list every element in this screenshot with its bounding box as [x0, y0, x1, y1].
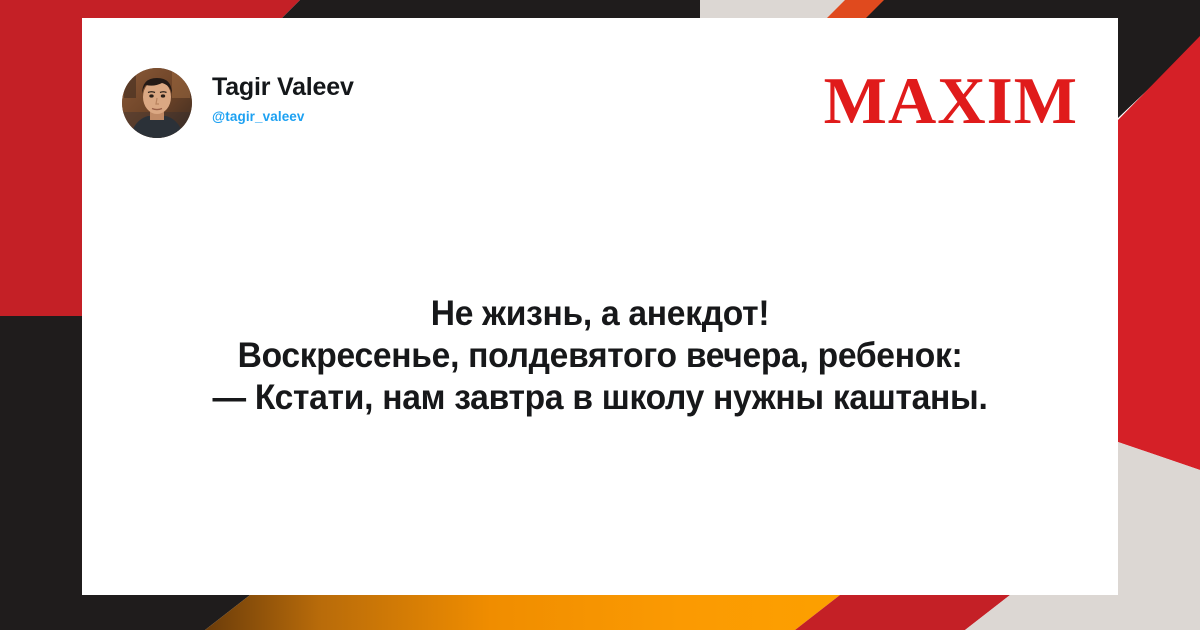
poster-canvas: Tagir Valeev @tagir_valeev MAXIM Не жизн… [0, 0, 1200, 630]
top-red-segment [0, 0, 300, 18]
quote-line-1: Не жизнь, а анекдот! [135, 293, 1064, 335]
author-name: Tagir Valeev [212, 74, 354, 102]
quote-card: Tagir Valeev @tagir_valeev MAXIM Не жизн… [82, 18, 1118, 595]
quote-line-3: — Кстати, нам завтра в школу нужны кашта… [135, 377, 1064, 419]
bottom-orange-band [205, 595, 840, 630]
quote-line-2: Воскресенье, полдевятого вечера, ребенок… [135, 335, 1064, 377]
avatar-photo [122, 68, 192, 138]
left-red-block [0, 0, 82, 316]
top-dark-segment [282, 0, 700, 18]
card-header: Tagir Valeev @tagir_valeev MAXIM [122, 62, 1082, 154]
avatar [122, 68, 192, 138]
maxim-logo: MAXIM [824, 62, 1082, 135]
quote-text: Не жизнь, а анекдот! Воскресенье, полдев… [82, 293, 1118, 419]
author-handle[interactable]: @tagir_valeev [212, 109, 354, 124]
author-block: Tagir Valeev @tagir_valeev [212, 62, 354, 124]
left-dark-block [0, 316, 82, 630]
